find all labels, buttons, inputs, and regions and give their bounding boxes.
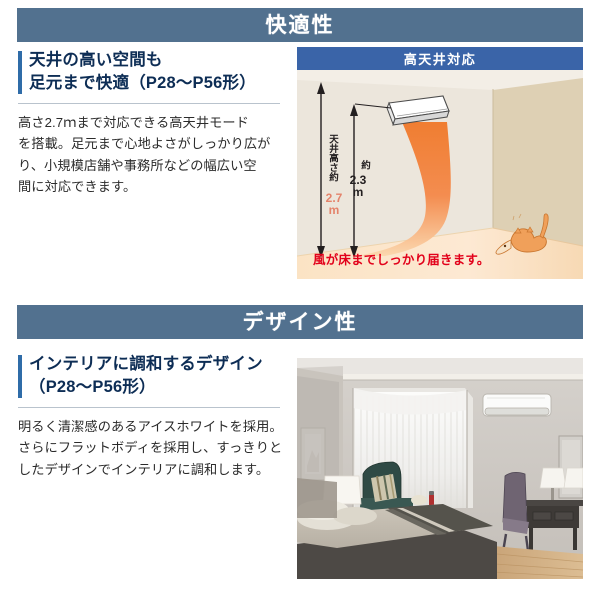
design-body-line-3: したデザインでインテリアに調和します。 — [18, 459, 280, 480]
ceiling-height-unit: m — [323, 204, 345, 216]
illustration-header-bar: 高天井対応 — [297, 47, 583, 70]
illustration-header-title: 高天井対応 — [404, 49, 477, 68]
comfort-text-column: 天井の高い空間も 足元まで快適（P28〜P56形） 高さ2.7ｍまで対応できる高… — [18, 49, 280, 197]
room-diagram-svg — [297, 70, 583, 279]
comfort-body-line-2: を搭載。足元まで心地よさがしっかり広が — [18, 133, 280, 154]
comfort-body-copy: 高さ2.7ｍまで対応できる高天井モード を搭載。足元まで心地よさがしっかり広が … — [18, 112, 280, 198]
comfort-body-line-4: 間に対応できます。 — [18, 176, 280, 197]
unit-height-unit: m — [347, 186, 369, 198]
design-headline-line-1: インテリアに調和するデザイン — [29, 353, 280, 376]
desk-lamp-right — [564, 468, 583, 488]
ceiling-height-label: 天井高さ約 — [327, 134, 337, 182]
comfort-headline-line-2: 足元まで快適（P28〜P56形） — [29, 72, 280, 95]
comfort-body-line-3: り、小規模店舗や事務所などの幅広い空 — [18, 155, 280, 176]
design-text-column: インテリアに調和するデザイン （P28〜P56形） 明るく清潔感のあるアイスホワ… — [18, 353, 280, 480]
design-body-line-2: さらにフラットボディを採用し、すっきりと — [18, 437, 280, 458]
comfort-headline-line-1: 天井の高い空間も — [29, 49, 280, 72]
wall-ac-unit — [483, 394, 551, 416]
section-banner-title: 快適性 — [266, 15, 335, 36]
design-body-copy: 明るく清潔感のあるアイスホワイトを採用。 さらにフラットボディを採用し、すっきり… — [18, 416, 280, 480]
page-root: 快適性 天井の高い空間も 足元まで快適（P28〜P56形） 高さ2.7ｍまで対応… — [0, 0, 600, 600]
bedroom-interior-photo — [297, 358, 583, 579]
unit-height-approx-label: 約 — [359, 160, 369, 170]
design-body-line-1: 明るく清潔感のあるアイスホワイトを採用。 — [18, 416, 280, 437]
comfort-headline-rule — [18, 103, 280, 104]
section-banner-design: デザイン性 — [17, 305, 583, 339]
section-banner-title-design: デザイン性 — [243, 312, 358, 333]
section-banner-comfort: 快適性 — [17, 8, 583, 42]
design-headline: インテリアに調和するデザイン （P28〜P56形） — [18, 353, 280, 400]
bedroom-scene-svg — [297, 358, 583, 579]
design-headline-line-2: （P28〜P56形） — [29, 376, 280, 399]
high-ceiling-illustration-panel: 高天井対応 — [297, 47, 583, 279]
airflow-caption: 風が床までしっかり届きます。 — [313, 249, 490, 268]
design-headline-rule — [18, 407, 280, 408]
illustration-stage: 天井高さ約 2.7 m 約 2.3 m 風が床までしっかり届きます。 — [297, 70, 583, 279]
comfort-headline: 天井の高い空間も 足元まで快適（P28〜P56形） — [18, 49, 280, 96]
comfort-body-line-1: 高さ2.7ｍまで対応できる高天井モード — [18, 112, 280, 133]
